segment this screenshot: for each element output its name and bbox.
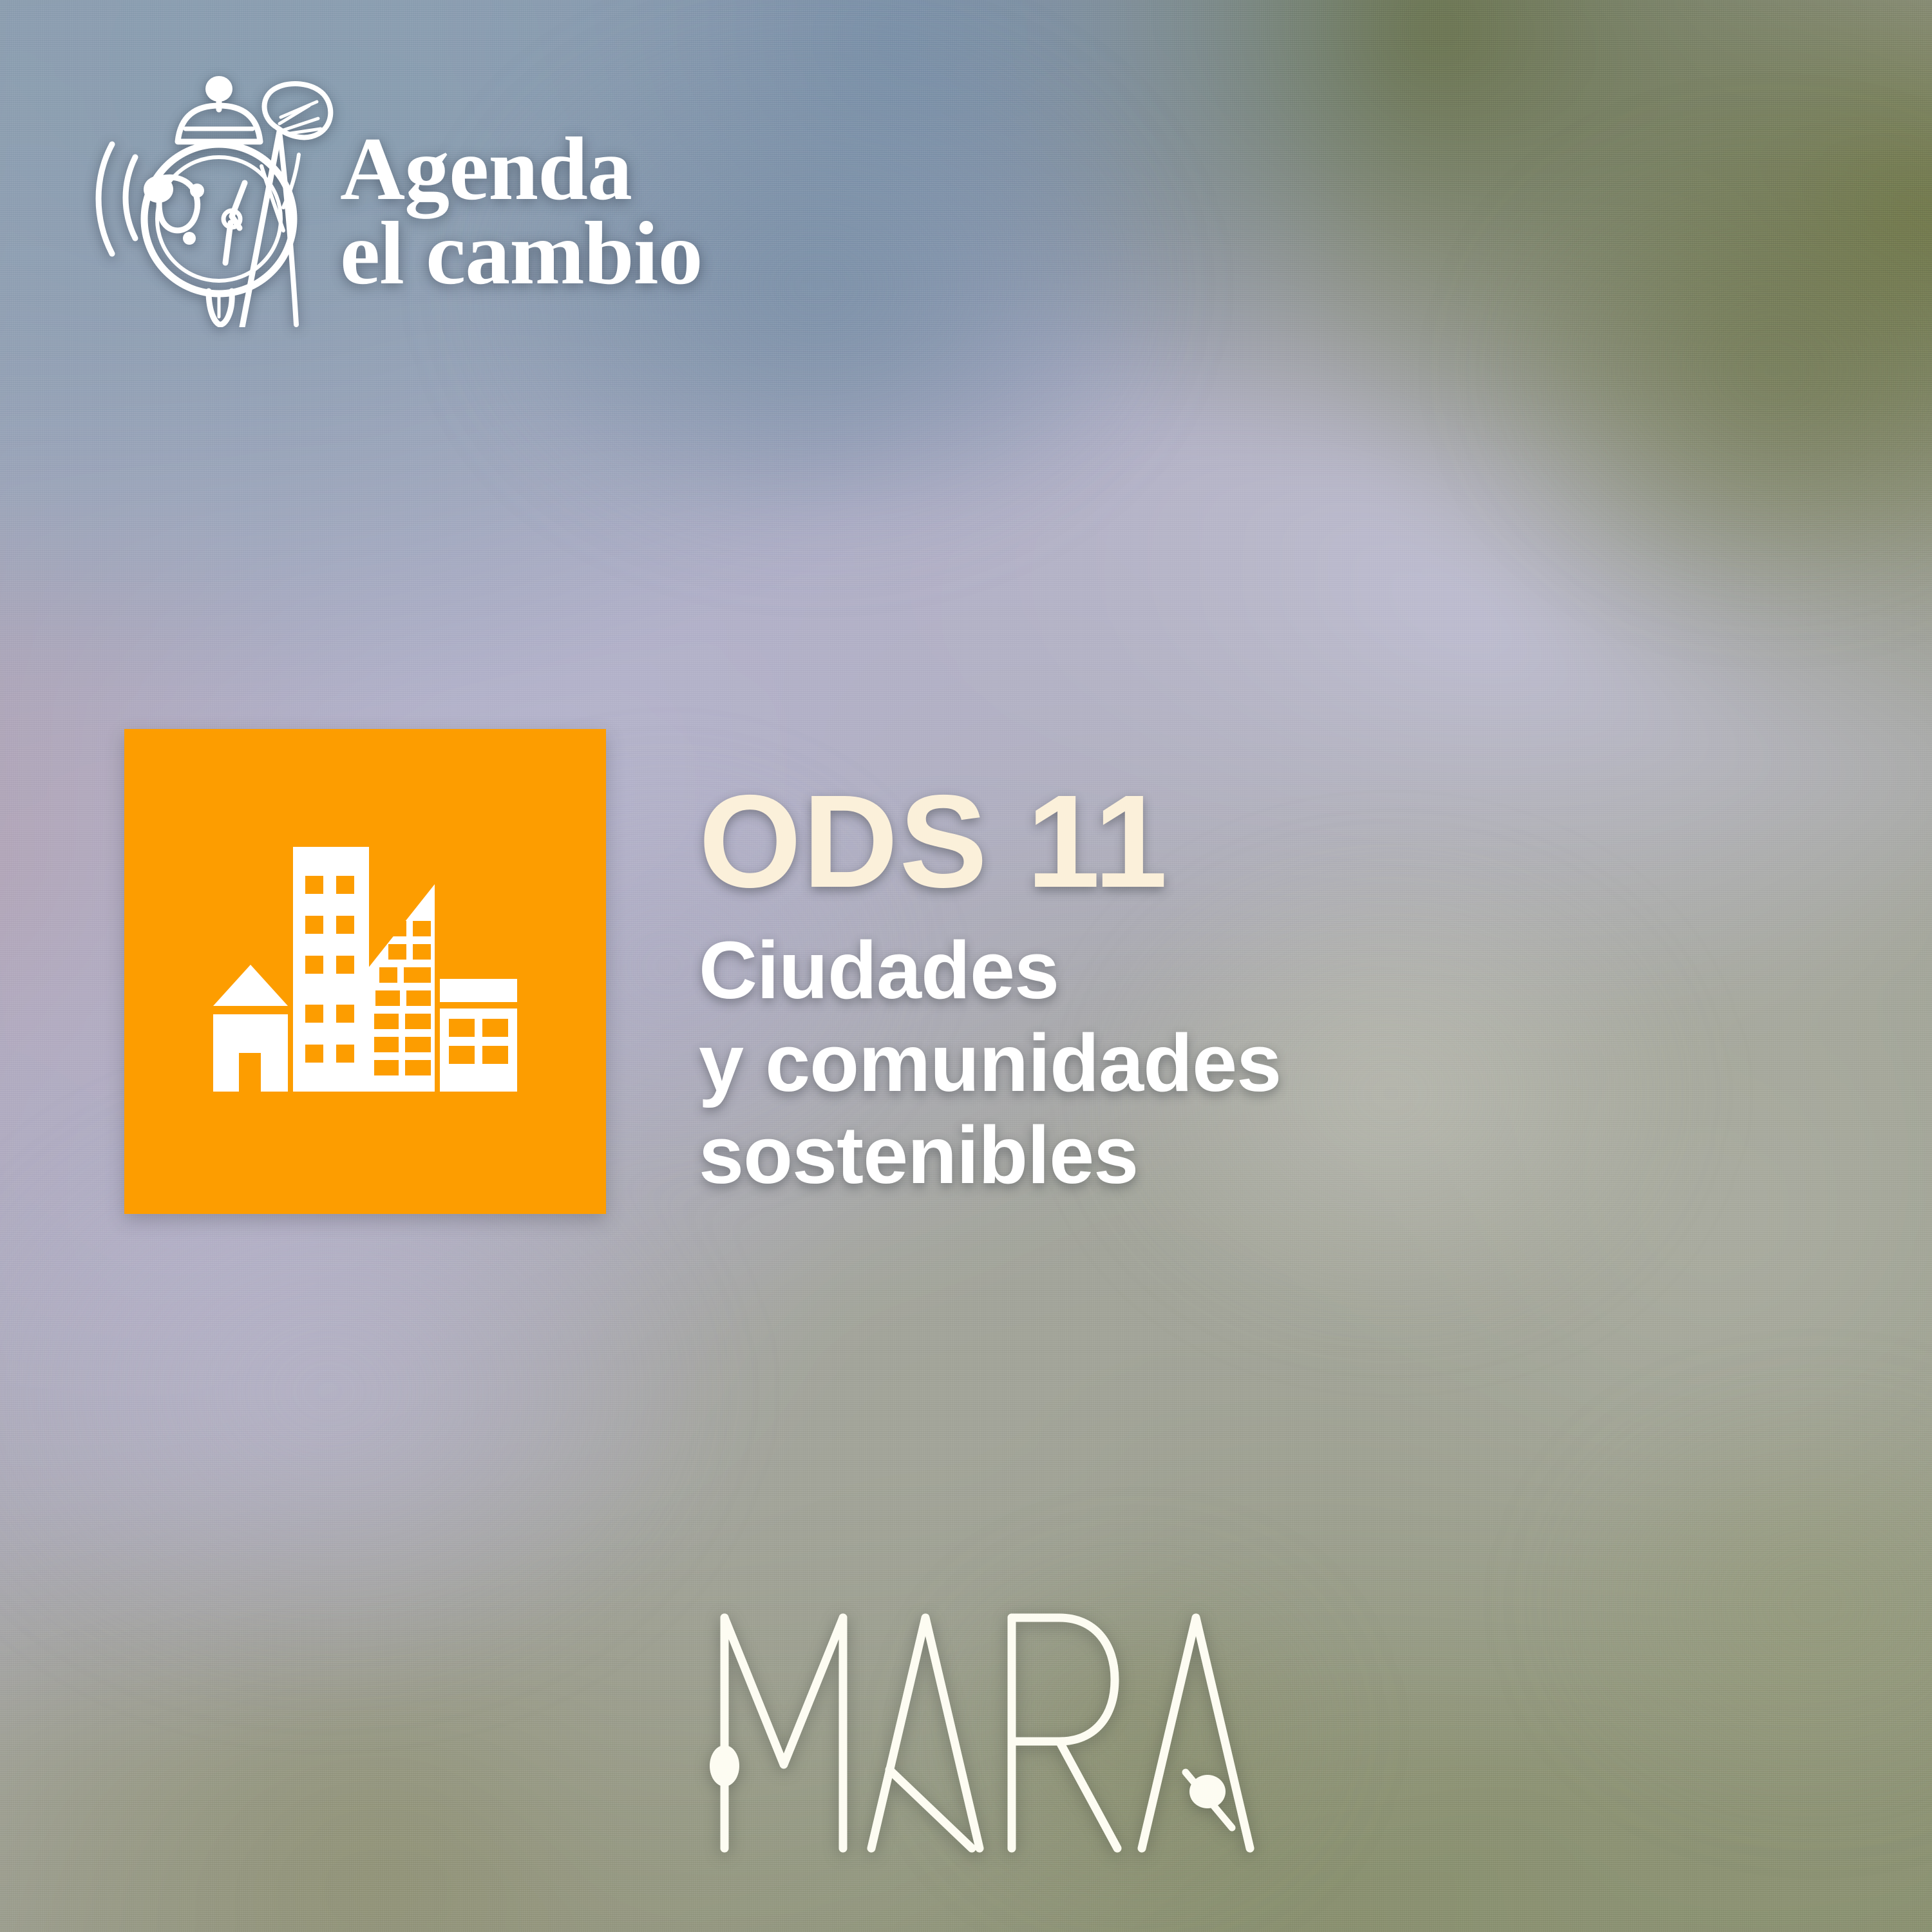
sdg-title-line-3: sostenibles [699,1109,1536,1202]
brand-line-el-cambio: el cambio [340,209,829,298]
sdg-title: Ciudades y comunidades sostenibles [699,924,1536,1202]
sdg-title-line-1: Ciudades [699,924,1536,1017]
sdg11-icon-tile [124,729,606,1214]
sdg11-cities-icon [124,729,606,1214]
mara-studio-logo[interactable] [699,1604,1265,1861]
poster-canvas: Agenda el cambio [0,0,1932,1932]
brand-logo[interactable]: Agenda el cambio [82,70,829,327]
brand-wordmark: Agenda el cambio [340,125,829,298]
mara-wordmark-icon [699,1604,1265,1861]
sdg-text-group: ODS 11 Ciudades y comunidades sostenible… [699,775,1536,1202]
brand-line-agenda: Agenda [340,125,829,213]
sdg-number-label: ODS 11 [699,775,1536,907]
sdg-title-line-2: y comunidades [699,1017,1536,1110]
alarm-clock-icon [82,70,353,327]
sdg-block: ODS 11 Ciudades y comunidades sostenible… [124,729,1541,1334]
